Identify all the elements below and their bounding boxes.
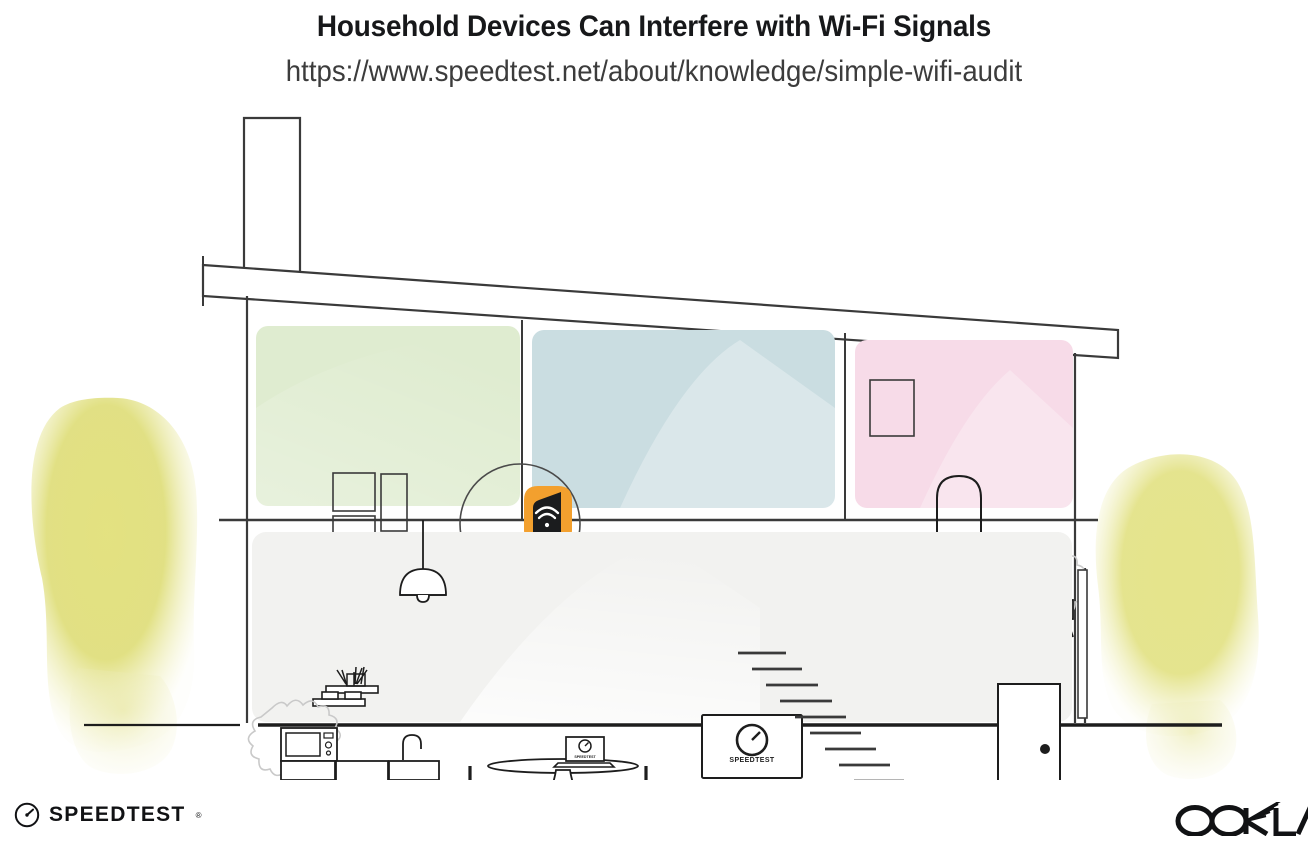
television[interactable]: SPEEDTEST <box>702 715 802 780</box>
front-door[interactable] <box>998 684 1060 780</box>
laptop-screen-label: SPEEDTEST <box>574 755 596 759</box>
speedtest-wordmark: SPEEDTEST <box>49 803 186 827</box>
foliage-right-blob <box>1096 454 1259 736</box>
counter-top-left <box>281 761 335 780</box>
ookla-logo[interactable]: ® <box>1174 802 1308 836</box>
cabinet-center <box>336 761 388 780</box>
right-window-post <box>1078 570 1087 718</box>
tv-screen-label: SPEEDTEST <box>729 757 775 764</box>
foliage-right-trunk <box>1146 700 1236 779</box>
speedtest-logo[interactable]: SPEEDTEST ® <box>14 802 201 828</box>
foliage-left <box>31 398 197 774</box>
faucet-icon <box>403 735 421 760</box>
foliage-right <box>1096 454 1259 779</box>
cup-2 <box>345 692 361 699</box>
page-root: Household Devices Can Interfere with Wi-… <box>0 0 1308 861</box>
shelf-lower <box>313 699 365 706</box>
laptop-keyboard <box>554 763 614 767</box>
laptop[interactable]: SPEEDTEST <box>554 737 614 767</box>
footer: SPEEDTEST ® <box>0 780 1308 861</box>
dining-table <box>488 759 638 780</box>
door-panel <box>998 684 1060 780</box>
house-cutaway-svg: SPEEDTEST <box>0 108 1308 780</box>
speedtest-trademark: ® <box>196 811 202 820</box>
page-url: https://www.speedtest.net/about/knowledg… <box>52 52 1255 91</box>
door-knob <box>1040 744 1050 754</box>
chimney <box>244 118 300 273</box>
cup-1 <box>322 692 338 699</box>
wifi-icon-dot <box>545 523 549 527</box>
microwave-door <box>286 733 320 756</box>
microwave-display <box>324 733 333 738</box>
page-title: Household Devices Can Interfere with Wi-… <box>46 8 1262 46</box>
counter-top-right <box>389 761 439 780</box>
foliage-left-trunk <box>70 668 177 774</box>
ookla-wordmark-icon: ® <box>1174 802 1308 836</box>
header: Household Devices Can Interfere with Wi-… <box>0 0 1308 108</box>
room-ground-floor: SPEEDTEST <box>248 520 1072 780</box>
house-illustration: SPEEDTEST <box>0 108 1308 780</box>
speedometer-icon <box>14 802 40 828</box>
